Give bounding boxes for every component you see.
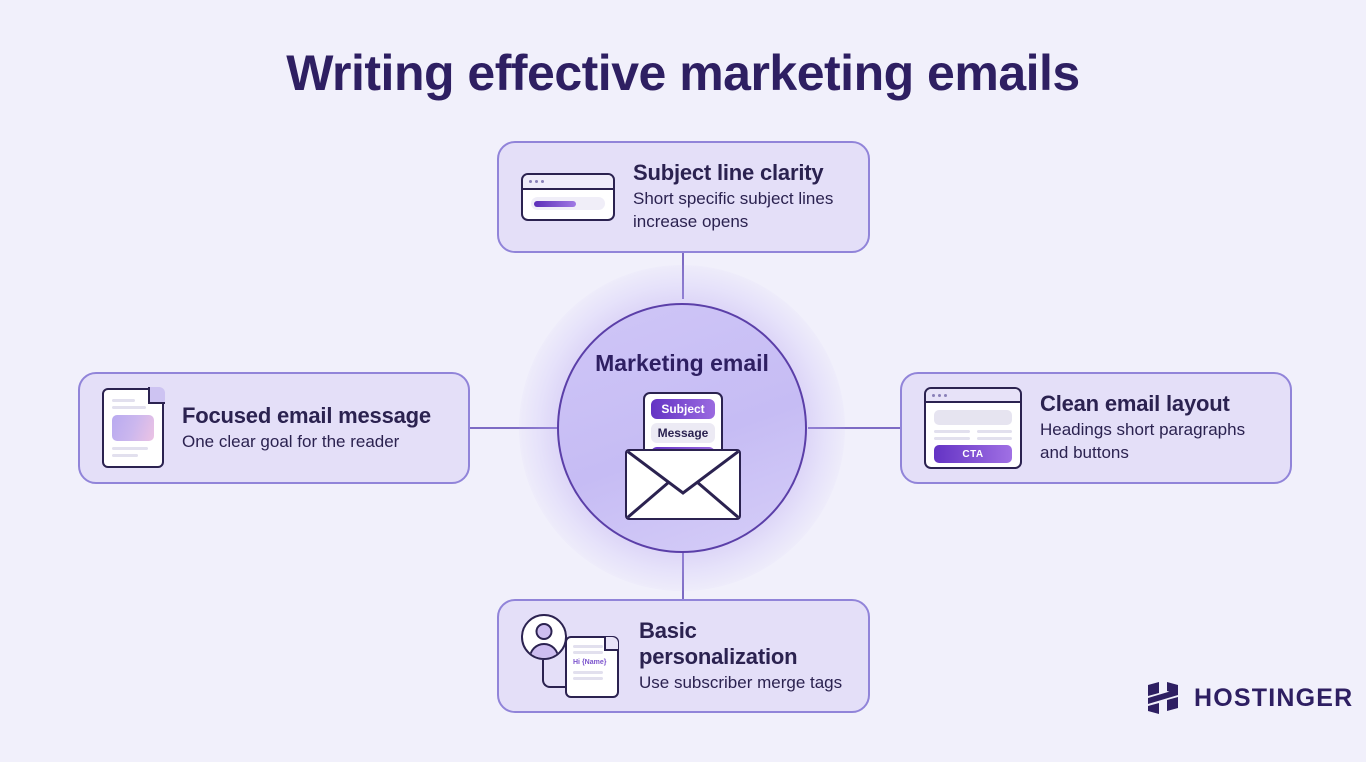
card-description: One clear goal for the reader <box>182 431 431 454</box>
browser-layout-icon: CTA <box>924 387 1022 469</box>
document-fold-icon <box>604 637 618 651</box>
document-image-block <box>112 415 154 441</box>
window-dot-icon <box>529 180 532 183</box>
hostinger-logo: HOSTINGER <box>1146 681 1353 715</box>
hub-label: Marketing email <box>557 350 807 377</box>
card-description: Use subscriber merge tags <box>639 672 846 695</box>
merge-tag-document-icon: Hi {Name} <box>565 636 619 698</box>
card-text: Subject line clarity Short specific subj… <box>633 160 846 234</box>
card-title: Basic personalization <box>639 618 846 670</box>
card-description: Short specific subject lines increase op… <box>633 188 846 234</box>
search-bar-icon <box>521 173 615 221</box>
card-description: Headings short paragraphs and buttons <box>1040 419 1268 465</box>
envelope-icon: Subject Message CTA <box>625 392 741 520</box>
card-title: Subject line clarity <box>633 160 846 186</box>
layout-hero-block <box>934 410 1012 425</box>
pill-message: Message <box>651 423 715 443</box>
window-dot-icon <box>541 180 544 183</box>
person-document-icon: Hi {Name} <box>521 614 621 698</box>
infographic-canvas: Marketing email Subject Message CTA <box>0 0 1366 762</box>
window-dot-icon <box>932 394 935 397</box>
card-clean-email-layout[interactable]: CTA Clean email layout Headings short pa… <box>900 372 1292 484</box>
card-title: Clean email layout <box>1040 391 1268 417</box>
avatar-icon <box>521 614 567 660</box>
merge-tag-label: Hi {Name} <box>573 659 611 666</box>
hostinger-h-icon <box>1146 681 1180 715</box>
card-text: Basic personalization Use subscriber mer… <box>639 618 846 695</box>
document-fold-icon <box>148 387 165 404</box>
card-focused-email-message[interactable]: Focused email message One clear goal for… <box>78 372 470 484</box>
document-icon <box>102 388 164 468</box>
window-dot-icon <box>938 394 941 397</box>
pill-subject: Subject <box>651 399 715 419</box>
window-dot-icon <box>944 394 947 397</box>
card-title: Focused email message <box>182 403 431 429</box>
window-dot-icon <box>535 180 538 183</box>
card-text: Clean email layout Headings short paragr… <box>1040 391 1268 465</box>
hostinger-wordmark: HOSTINGER <box>1194 684 1353 713</box>
layout-cta-button: CTA <box>934 445 1012 463</box>
card-basic-personalization[interactable]: Hi {Name} Basic personalization Use subs… <box>497 599 870 713</box>
envelope-body <box>625 449 741 520</box>
card-subject-line-clarity[interactable]: Subject line clarity Short specific subj… <box>497 141 870 253</box>
card-text: Focused email message One clear goal for… <box>182 403 431 454</box>
envelope-flap-icon <box>627 451 739 518</box>
